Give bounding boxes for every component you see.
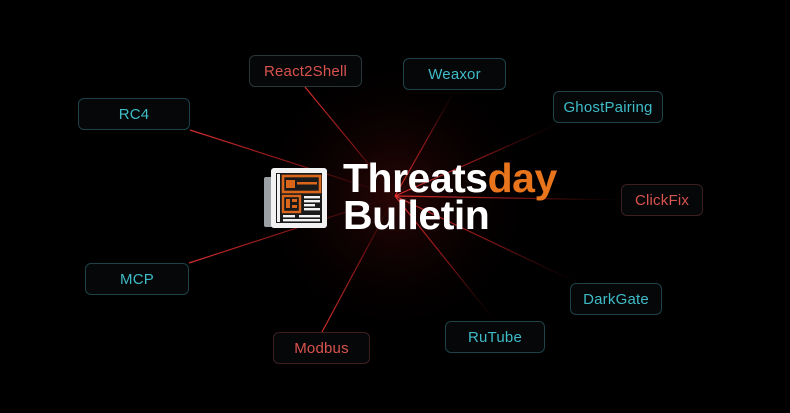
node-label: DarkGate [583, 291, 649, 308]
node-label: Modbus [294, 340, 349, 357]
node-label: RuTube [468, 329, 522, 346]
logo-wordmark: Threatsday Bulletin [343, 160, 557, 234]
logo-day-text: day [488, 155, 557, 201]
node-clickfix[interactable]: ClickFix [621, 184, 703, 216]
threat-graph-canvas: Threatsday Bulletin RC4React2ShellWeaxor… [0, 0, 790, 413]
node-label: ClickFix [635, 192, 689, 209]
node-weaxor[interactable]: Weaxor [403, 58, 506, 90]
node-label: GhostPairing [563, 99, 652, 116]
node-mcp[interactable]: MCP [85, 263, 189, 295]
node-label: RC4 [119, 106, 150, 123]
node-react2shell[interactable]: React2Shell [249, 55, 362, 87]
node-label: MCP [120, 271, 154, 288]
node-rc4[interactable]: RC4 [78, 98, 190, 130]
node-rutube[interactable]: RuTube [445, 321, 545, 353]
node-label: React2Shell [264, 63, 347, 80]
newspaper-icon [263, 163, 329, 231]
node-modbus[interactable]: Modbus [273, 332, 370, 364]
node-label: Weaxor [428, 66, 481, 83]
logo-line-two: Bulletin [343, 197, 557, 234]
threatsday-bulletin-logo: Threatsday Bulletin [263, 160, 557, 234]
node-ghostpairing[interactable]: GhostPairing [553, 91, 663, 123]
node-darkgate[interactable]: DarkGate [570, 283, 662, 315]
